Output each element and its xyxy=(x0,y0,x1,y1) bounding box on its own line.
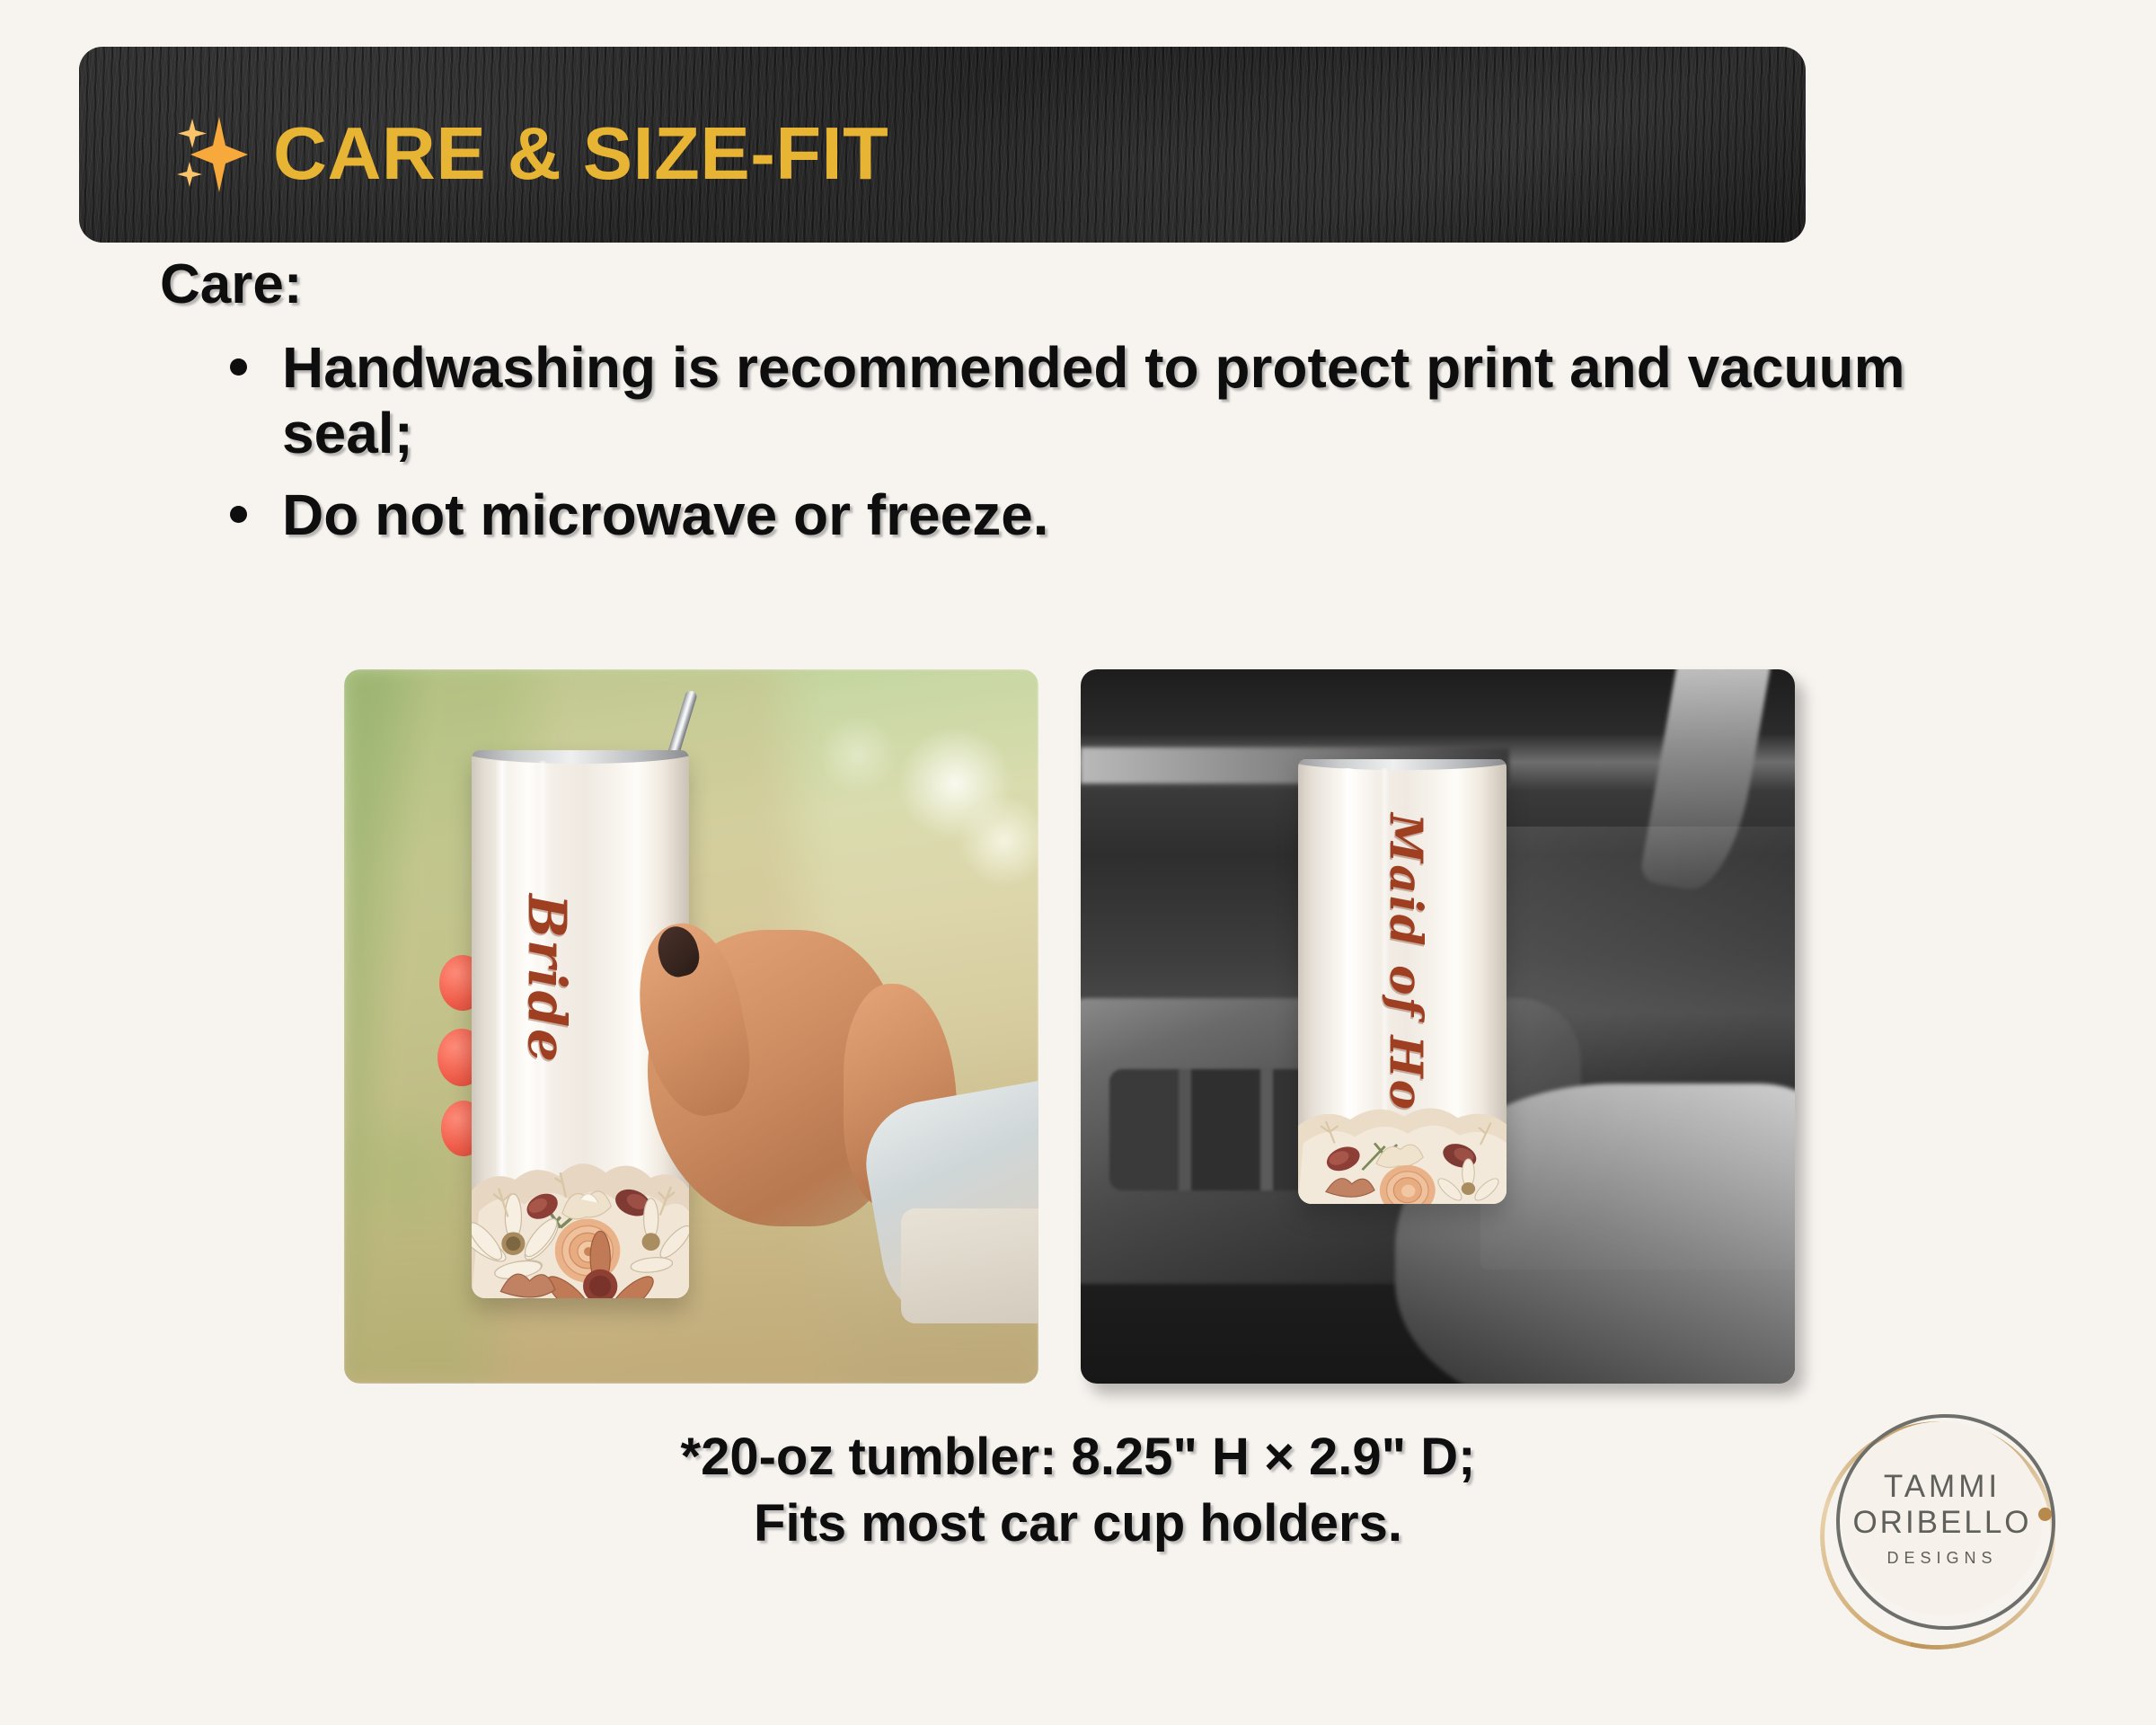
header-content: CARE & SIZE-FIT xyxy=(167,110,888,196)
section-header-bar: CARE & SIZE-FIT xyxy=(79,47,1806,243)
logo-line-2: ORIBELLO xyxy=(1852,1505,2031,1540)
hand xyxy=(344,669,1038,1384)
bullet-icon xyxy=(230,358,247,376)
logo-line-1: TAMMI xyxy=(1884,1469,2001,1504)
page-title: CARE & SIZE-FIT xyxy=(273,116,888,190)
brand-logo: TAMMI ORIBELLO DESIGNS xyxy=(1815,1412,2075,1653)
care-heading: Care: xyxy=(160,253,2064,315)
floral-band xyxy=(1298,1071,1507,1205)
photo-maid-of-honor-in-cupholder: Maid of Honor xyxy=(1081,669,1795,1384)
logo-line-3: DESIGNS xyxy=(1886,1549,1997,1568)
photo-bride-tumbler-in-hand: Bride xyxy=(344,669,1038,1384)
care-item-text: Handwashing is recommended to protect pr… xyxy=(282,335,1905,465)
product-photos: Bride xyxy=(344,669,1795,1384)
care-section: Care: Handwashing is recommended to prot… xyxy=(160,253,2064,564)
care-item-text: Do not microwave or freeze. xyxy=(282,482,1049,547)
sleeve-hem xyxy=(901,1208,1038,1323)
care-instructions-list: Handwashing is recommended to protect pr… xyxy=(160,335,2064,548)
window-glare xyxy=(1480,827,1795,1269)
bullet-icon xyxy=(230,506,247,523)
sparkles-icon xyxy=(167,110,250,196)
logo-wordmark: TAMMI ORIBELLO DESIGNS xyxy=(1842,1421,2043,1615)
tumbler-maid-of-honor: Maid of Honor xyxy=(1298,759,1507,1204)
tumbler-lid xyxy=(1298,759,1507,770)
list-item: Do not microwave or freeze. xyxy=(230,482,2043,548)
list-item: Handwashing is recommended to protect pr… xyxy=(230,335,2043,466)
